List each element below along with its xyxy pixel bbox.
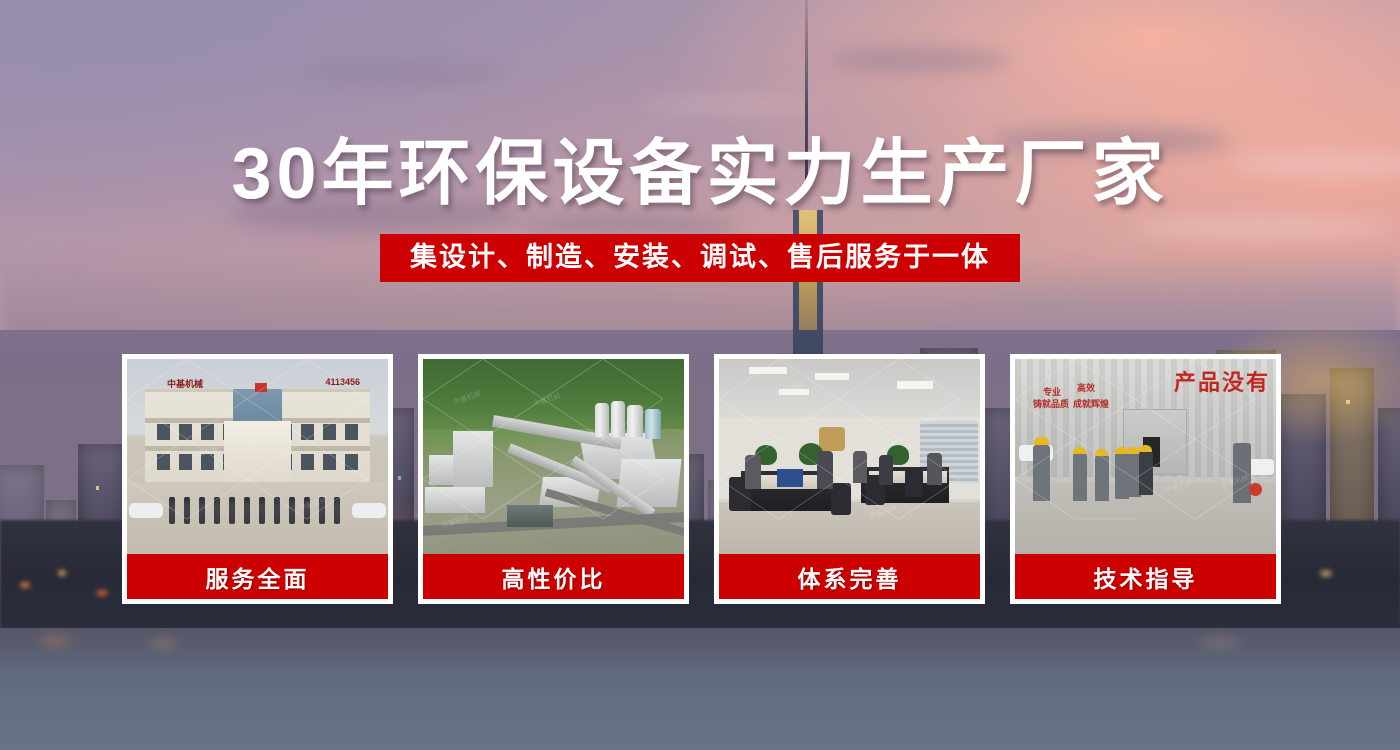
river-water [0, 628, 1400, 750]
card-label: 服务全面 [127, 554, 388, 599]
photo-wall-slogan: 产品没有 [1174, 365, 1270, 397]
photo-company-sign: 中基机械 [167, 377, 203, 390]
subtitle-banner-wrap: 集设计、制造、安装、调试、售后服务于一体 [0, 234, 1400, 282]
photo-wall-slogan-small: 成就辉煌 [1073, 397, 1109, 410]
feature-card-row: 中基机械 4113456 中基机械 [122, 354, 1278, 604]
photo-phone-number: 4113456 [325, 377, 360, 387]
feature-card[interactable]: 产品没有 专业 高效 铸就品质 成就辉煌 [1010, 354, 1281, 604]
card-photo-office-workspace: 中基机械 中基机械 中基机械 [719, 359, 980, 554]
photo-wall-slogan-small: 高效 [1077, 381, 1095, 394]
feature-card[interactable]: 中基机械 4113456 中基机械 [122, 354, 393, 604]
page-title: 30年环保设备实力生产厂家 [0, 137, 1400, 213]
photo-wall-slogan-small: 铸就品质 [1033, 397, 1069, 410]
card-label: 技术指导 [1015, 554, 1276, 599]
subtitle-banner: 集设计、制造、安装、调试、售后服务于一体 [380, 234, 1020, 282]
promo-banner: 30年环保设备实力生产厂家 集设计、制造、安装、调试、售后服务于一体 [0, 0, 1400, 750]
card-photo-office-building: 中基机械 4113456 中基机械 [127, 359, 388, 554]
feature-card[interactable]: 中基机械 中基机械 中基机械 体系完善 [714, 354, 985, 604]
card-label: 高性价比 [423, 554, 684, 599]
card-label: 体系完善 [719, 554, 980, 599]
card-photo-industrial-plant: 中基机械 中基机械 中基机械 [423, 359, 684, 554]
feature-card[interactable]: 中基机械 中基机械 中基机械 高性价比 [418, 354, 689, 604]
card-photo-workers-factory: 产品没有 专业 高效 铸就品质 成就辉煌 [1015, 359, 1276, 554]
